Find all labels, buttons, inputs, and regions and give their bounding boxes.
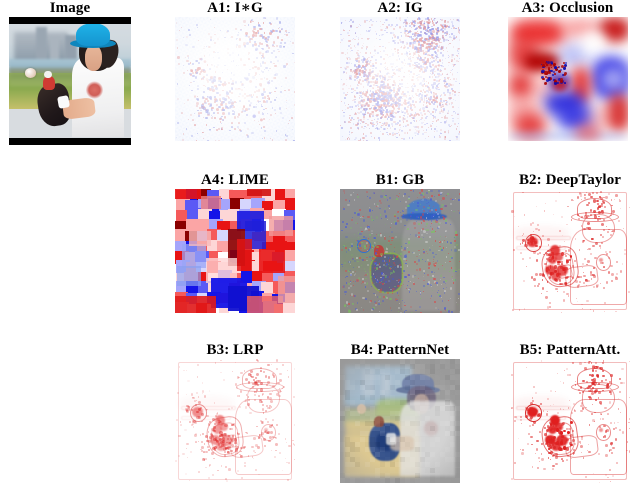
panel-image-canvas [9, 17, 131, 145]
attribution-figure: Image A1: I∗G A2: IG A3: Occlusion [0, 0, 640, 493]
panel-title-image: Image [0, 0, 140, 17]
panel-a4: A4: LIME [170, 172, 300, 313]
panel-title-b3: B3: LRP [170, 342, 300, 359]
panel-a1: A1: I∗G [170, 0, 300, 141]
panel-title-b5: B5: PatternAtt. [500, 342, 640, 359]
panel-b3-canvas [175, 359, 295, 483]
panel-a1-canvas [175, 17, 295, 141]
panel-title-a1: A1: I∗G [170, 0, 300, 17]
panel-title-a2: A2: IG [335, 0, 465, 17]
panel-a2: A2: IG [335, 0, 465, 141]
panel-b1: B1: GB [335, 172, 465, 313]
panel-title-a4: A4: LIME [170, 172, 300, 189]
panel-b2: B2: DeepTaylor [500, 172, 640, 313]
panel-b4: B4: PatternNet [335, 342, 465, 483]
panel-a3-canvas [508, 17, 628, 141]
panel-b1-canvas [340, 189, 460, 313]
panel-b5: B5: PatternAtt. [500, 342, 640, 483]
panel-b5-canvas [510, 359, 630, 483]
panel-title-b2: B2: DeepTaylor [500, 172, 640, 189]
panel-a4-canvas [175, 189, 295, 313]
panel-image: Image [0, 0, 140, 145]
panel-title-a3: A3: Occlusion [500, 0, 635, 17]
panel-b4-canvas [340, 359, 460, 483]
panel-b2-canvas [510, 189, 630, 313]
panel-b3: B3: LRP [170, 342, 300, 483]
panel-a2-canvas [340, 17, 460, 141]
panel-title-b1: B1: GB [335, 172, 465, 189]
panel-title-b4: B4: PatternNet [335, 342, 465, 359]
panel-a3: A3: Occlusion [500, 0, 635, 141]
